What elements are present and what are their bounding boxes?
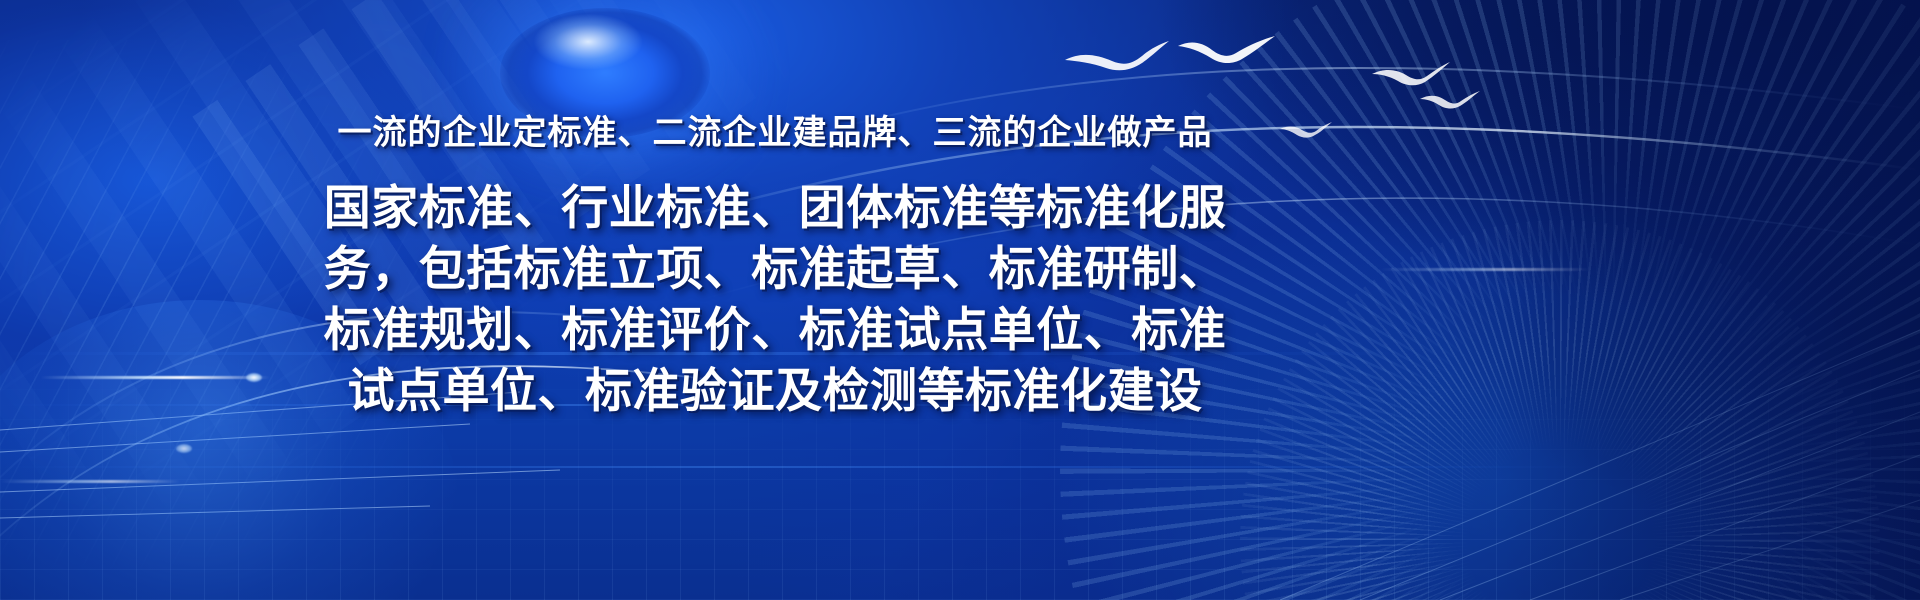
- light-streak-secondary: [0, 480, 180, 483]
- hero-banner: 一流的企业定标准、二流企业建品牌、三流的企业做产品 国家标准、行业标准、团体标准…: [0, 0, 1920, 600]
- banner-subheading-line: 试点单位、标准验证及检测等标准化建设: [245, 360, 1305, 421]
- banner-text-block: 一流的企业定标准、二流企业建品牌、三流的企业做产品 国家标准、行业标准、团体标准…: [0, 0, 1550, 421]
- right-edge-fade: [1500, 0, 1920, 600]
- banner-headline: 一流的企业定标准、二流企业建品牌、三流的企业做产品: [0, 0, 1550, 155]
- banner-subheading-line: 标准规划、标准评价、标准试点单位、标准: [245, 299, 1305, 360]
- light-streak-dot-secondary: [176, 444, 192, 453]
- banner-subheading-line: 务，包括标准立项、标准起草、标准研制、: [245, 238, 1305, 299]
- banner-subheading-line: 国家标准、行业标准、团体标准等标准化服: [245, 177, 1305, 238]
- banner-subheading: 国家标准、行业标准、团体标准等标准化服 务，包括标准立项、标准起草、标准研制、 …: [245, 177, 1305, 421]
